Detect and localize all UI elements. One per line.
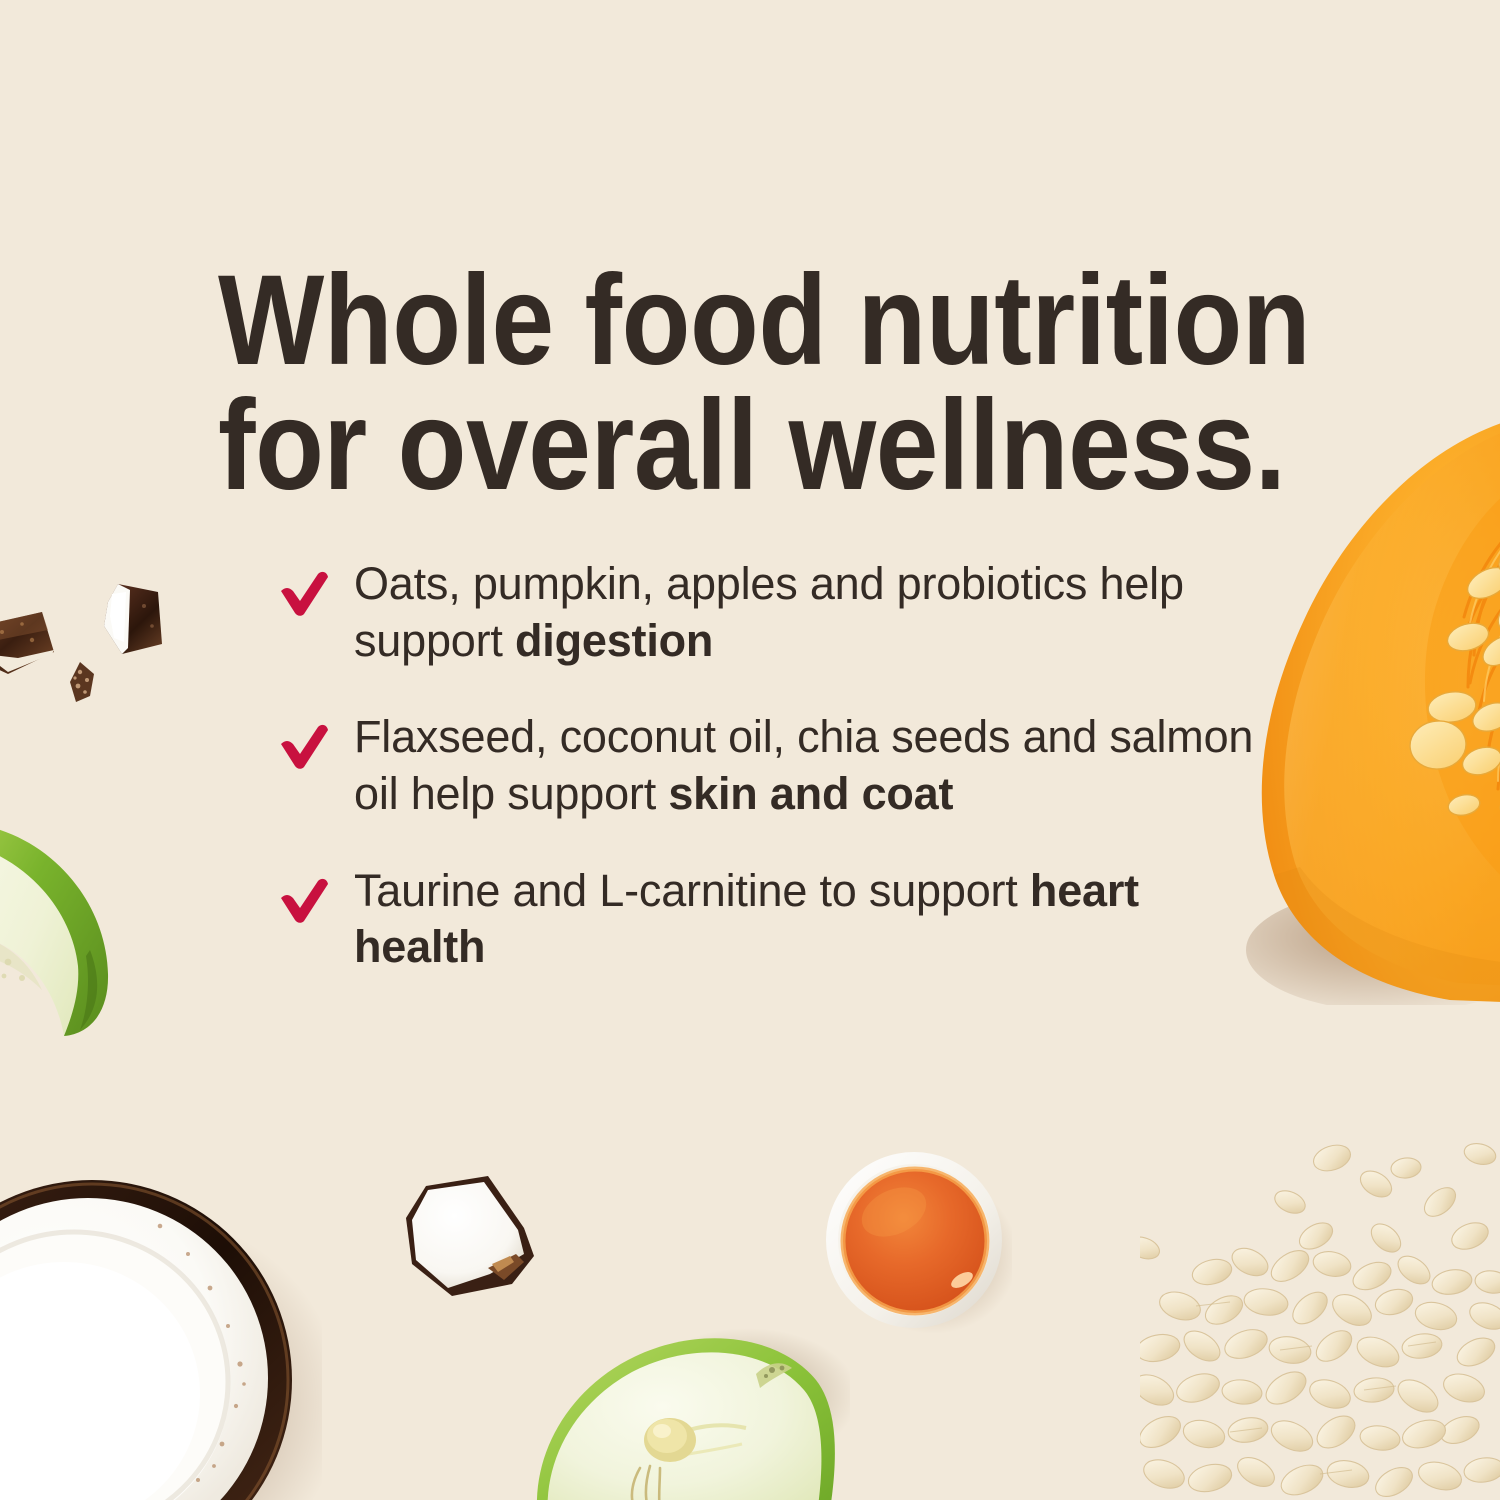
list-item-emphasis: digestion [515, 615, 713, 666]
coconut-chunk-image [88, 582, 166, 662]
headline-line-2: for overall wellness. [218, 383, 1212, 508]
list-item-lead: Oats, pumpkin, apples and probiotics hel… [354, 558, 1184, 666]
list-item: Oats, pumpkin, apples and probiotics hel… [278, 556, 1268, 669]
check-icon [278, 723, 330, 769]
headline-line-1: Whole food nutrition [218, 258, 1212, 383]
list-item-lead: Taurine and L-carnitine to support [354, 865, 1030, 916]
list-item: Flaxseed, coconut oil, chia seeds and sa… [278, 709, 1268, 822]
green-apple-slice-image [0, 800, 160, 1040]
list-item-emphasis: skin and coat [668, 768, 953, 819]
promo-banner: Whole food nutrition for overall wellnes… [0, 0, 1500, 1500]
list-item-text: Oats, pumpkin, apples and probiotics hel… [354, 556, 1268, 669]
check-icon [278, 570, 330, 616]
list-item: Taurine and L-carnitine to support heart… [278, 863, 1268, 976]
coconut-chunk-image [68, 660, 98, 704]
list-item-text: Flaxseed, coconut oil, chia seeds and sa… [354, 709, 1268, 822]
page-title: Whole food nutrition for overall wellnes… [218, 258, 1212, 509]
rolled-oats-image [1140, 1140, 1500, 1500]
benefit-list: Oats, pumpkin, apples and probiotics hel… [278, 556, 1268, 976]
salmon-oil-bowl-image [822, 1148, 1012, 1338]
coconut-half-image [0, 1168, 322, 1500]
coconut-chunk-image [0, 610, 60, 682]
green-apple-half-image [520, 1318, 850, 1500]
check-icon [278, 877, 330, 923]
coconut-wedge-image [392, 1172, 552, 1312]
list-item-text: Taurine and L-carnitine to support heart… [354, 863, 1268, 976]
